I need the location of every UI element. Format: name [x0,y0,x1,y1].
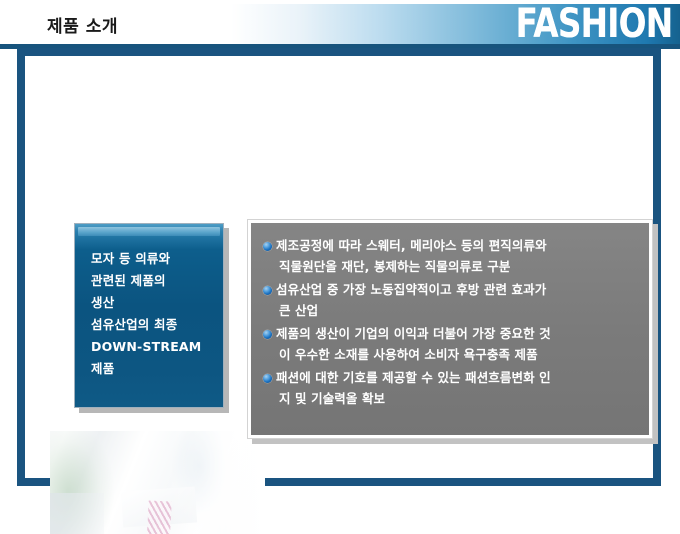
list-item-line-1: 제조공정에 따라 스웨터, 메리야스 등의 편직의류와 [276,238,547,253]
fashion-logo: FASHION [481,3,672,45]
list-item-line-2: 큰 산업 [276,300,639,321]
callout-line-4: 섬유산업의 최종 [91,314,217,336]
list-item-line-1: 섬유산업 중 가장 노동집약적이고 후방 관련 효과가 [276,282,546,297]
list-item-text: 패션에 대한 기호를 제공할 수 있는 패션흐름변화 인 지 및 기술력올 확보 [276,367,639,409]
callout-line-6: 제품 [91,358,217,380]
content-frame: 모자 등 의류와 관련된 제품의 생산 섬유산업의 최종 DOWN-STREAM… [17,48,661,486]
list-item-line-2: 지 및 기술력올 확보 [276,388,639,409]
list-item: 패션에 대한 기호를 제공할 수 있는 패션흐름변화 인 지 및 기술력올 확보 [263,367,639,409]
callout-box: 모자 등 의류와 관련된 제품의 생산 섬유산업의 최종 DOWN-STREAM… [74,223,224,408]
callout-line-3: 생산 [91,292,217,314]
content-box: 제조공정에 따라 스웨터, 메리야스 등의 편직의류와 직물원단올 재단, 봉제… [247,219,653,439]
slide-canvas: 제품 소개 FASHION 모자 등 의류와 관련된 제품의 생산 섬유산업의 … [0,0,680,510]
callout-text: 모자 등 의류와 관련된 제품의 생산 섬유산업의 최종 DOWN-STREAM… [91,248,217,380]
callout-line-2: 관련된 제품의 [91,270,217,292]
list-item-line-2: 직물원단올 재단, 봉제하는 직물의류로 구분 [276,256,639,277]
list-item-line-1: 패션에 대한 기호를 제공할 수 있는 패션흐름변화 인 [276,370,551,385]
page-title: 제품 소개 [47,12,118,37]
list-item: 섬유산업 중 가장 노동집약적이고 후방 관련 효과가 큰 산업 [263,279,639,321]
callout-line-1: 모자 등 의류와 [91,248,217,270]
bullet-sphere-icon [263,330,272,339]
list-item-text: 섬유산업 중 가장 노동집약적이고 후방 관련 효과가 큰 산업 [276,279,639,321]
fashion-logo-text: FASHION [515,3,672,45]
list-item-line-1: 제품의 생산이 기업의 이익과 더불어 가장 중요한 것 [276,326,551,341]
photo-fade-overlay [50,431,265,534]
bullet-sphere-icon [263,242,272,251]
list-item-text: 제품의 생산이 기업의 이익과 더불어 가장 중요한 것 이 우수한 소재를 사… [276,323,639,365]
list-item: 제품의 생산이 기업의 이익과 더불어 가장 중요한 것 이 우수한 소재를 사… [263,323,639,365]
list-item-text: 제조공정에 따라 스웨터, 메리야스 등의 편직의류와 직물원단올 재단, 봉제… [276,235,639,277]
callout-box-gloss [78,227,220,236]
background-photo [50,431,265,534]
callout-line-5: DOWN-STREAM [91,336,217,358]
bullet-sphere-icon [263,286,272,295]
list-item: 제조공정에 따라 스웨터, 메리야스 등의 편직의류와 직물원단올 재단, 봉제… [263,235,639,277]
list-item-line-2: 이 우수한 소재를 사용하여 소비자 욕구충족 제품 [276,344,639,365]
content-box-inner: 제조공정에 따라 스웨터, 메리야스 등의 편직의류와 직물원단올 재단, 봉제… [251,223,649,435]
bullet-sphere-icon [263,374,272,383]
